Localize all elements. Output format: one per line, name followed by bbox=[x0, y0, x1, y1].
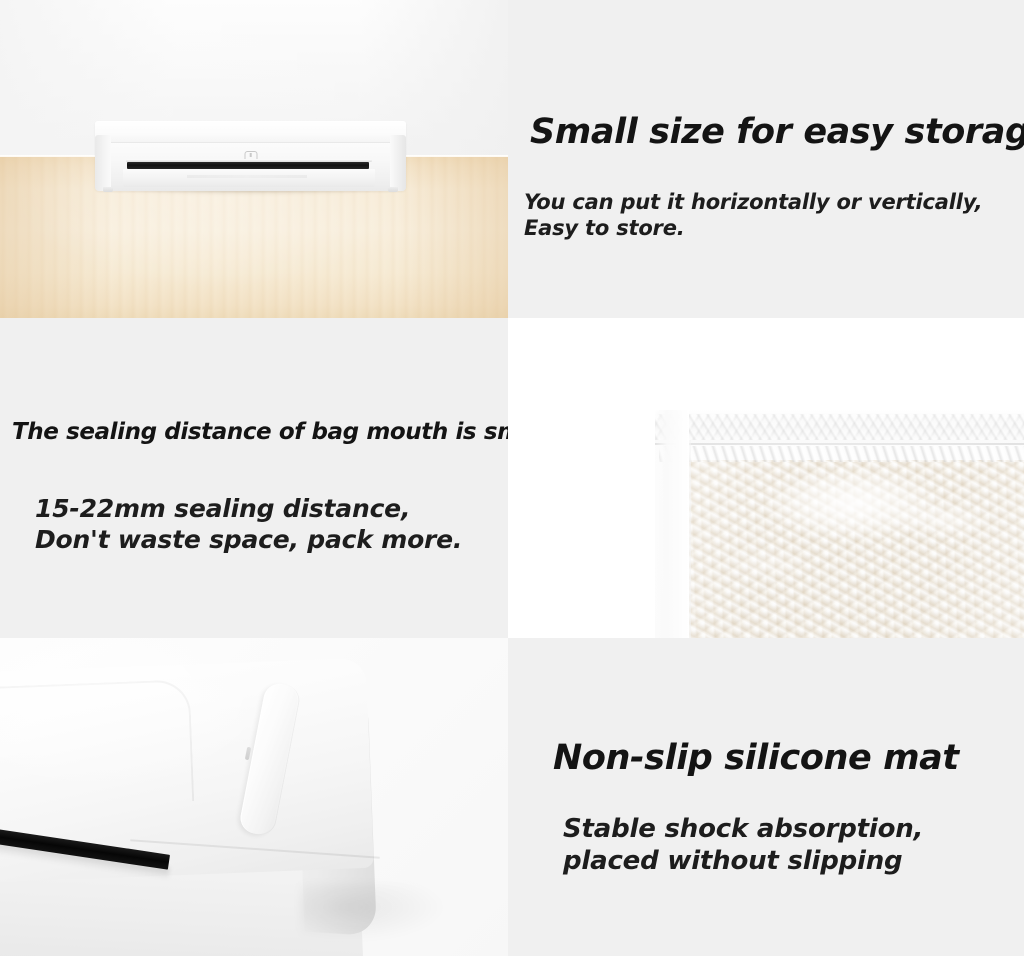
device-panel-detail bbox=[187, 175, 307, 178]
device-right-cap bbox=[390, 135, 406, 191]
vacuum-sealed-bag bbox=[655, 410, 1024, 638]
vacuum-sealer-device bbox=[95, 121, 406, 191]
device-top-seam bbox=[99, 142, 402, 143]
storage-subline: You can put it horizontally or verticall… bbox=[524, 190, 982, 241]
panel-sealing-copy: The sealing distance of bag mouth is sma… bbox=[0, 318, 508, 638]
mat-subline-line1: Stable shock absorption, bbox=[563, 814, 923, 846]
product-feature-collage: Small size for easy storage You can put … bbox=[0, 0, 1024, 956]
sealing-headline: The sealing distance of bag mouth is sma… bbox=[12, 419, 508, 445]
photo-sealer-on-table bbox=[0, 0, 508, 318]
panel-mat-copy: Non-slip silicone mat Stable shock absor… bbox=[508, 638, 1024, 956]
mat-headline: Non-slip silicone mat bbox=[553, 738, 959, 778]
storage-headline: Small size for easy storage bbox=[530, 112, 1024, 152]
bag-left-edge bbox=[655, 410, 689, 638]
sealing-subline-line2: Don't waste space, pack more. bbox=[35, 525, 462, 556]
storage-subline-line1: You can put it horizontally or verticall… bbox=[524, 190, 982, 216]
panel-storage-copy: Small size for easy storage You can put … bbox=[508, 0, 1024, 318]
device-left-cap bbox=[95, 135, 111, 191]
storage-subline-line2: Easy to store. bbox=[524, 216, 982, 242]
bag-crimp-texture bbox=[659, 446, 1024, 462]
device-sealing-slot bbox=[127, 162, 369, 169]
photo-sealed-bag bbox=[508, 318, 1024, 638]
sealing-subline-line1: 15-22mm sealing distance, bbox=[35, 494, 462, 525]
mat-subline-line2: placed without slipping bbox=[563, 846, 923, 878]
bag-seal-embossing bbox=[655, 414, 1024, 440]
mat-subline: Stable shock absorption, placed without … bbox=[563, 814, 923, 877]
bag-seal-line bbox=[655, 443, 1024, 445]
bag-film-gloss bbox=[685, 460, 1024, 638]
sealing-subline: 15-22mm sealing distance, Don't waste sp… bbox=[35, 494, 462, 555]
device-top-face bbox=[95, 121, 406, 143]
device-lower-panel bbox=[123, 169, 375, 187]
device-foot-right bbox=[388, 187, 398, 192]
device-foot-left bbox=[103, 187, 113, 192]
